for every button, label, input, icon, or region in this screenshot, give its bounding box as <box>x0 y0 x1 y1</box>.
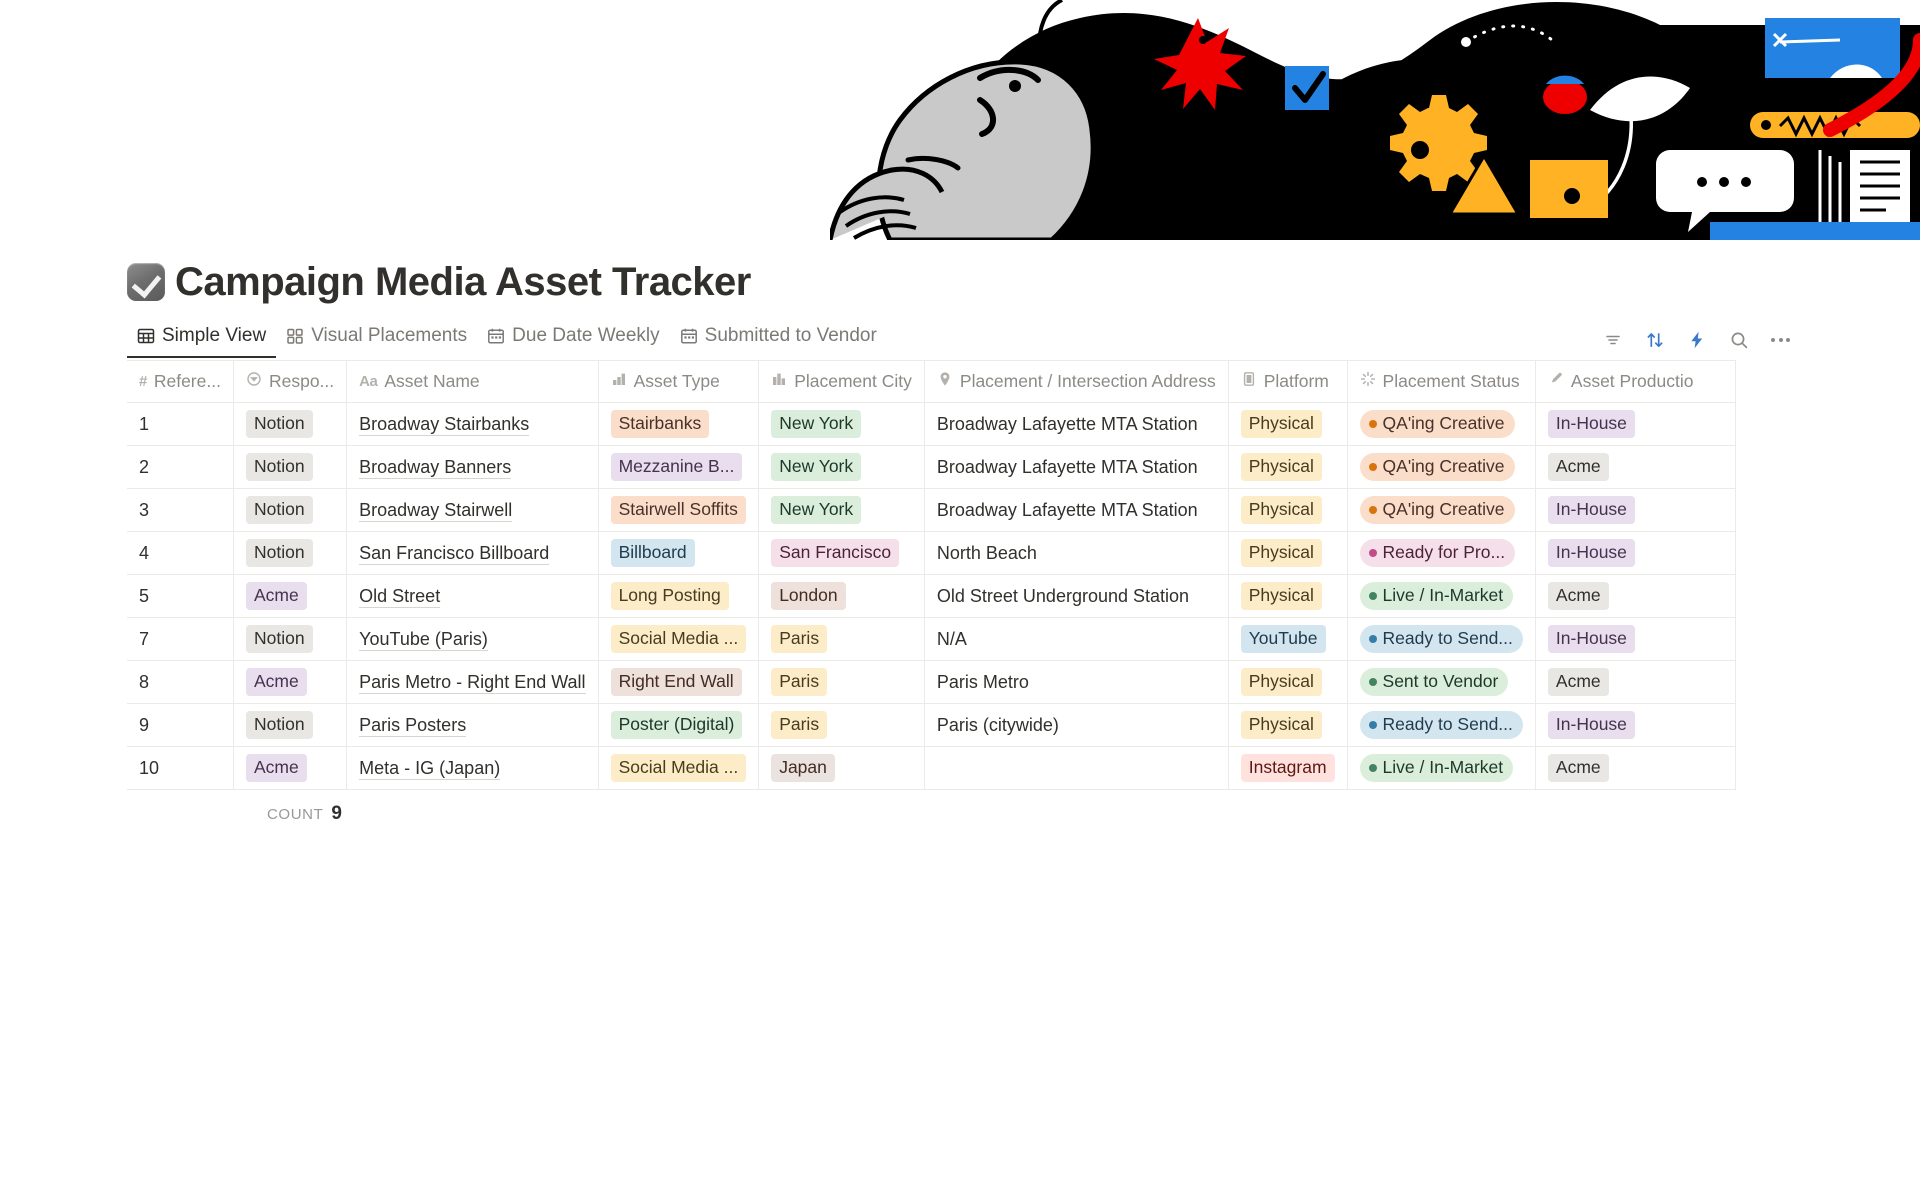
status-dot-icon <box>1369 463 1377 471</box>
table-row[interactable]: 2NotionBroadway BannersMezzanine B...New… <box>127 446 1735 489</box>
cell-placement-city[interactable]: New York <box>759 489 925 532</box>
table-icon <box>137 327 155 345</box>
select-device-icon <box>1241 371 1257 392</box>
asset-production-tag[interactable]: In-House <box>1548 539 1635 567</box>
placement-status-tag[interactable]: Ready to Send... <box>1360 711 1523 739</box>
cell-reference[interactable]: 10 <box>127 747 233 790</box>
cell-placement-address[interactable] <box>924 747 1228 790</box>
cell-asset-production[interactable]: In-House <box>1535 403 1735 446</box>
cell-asset-type[interactable]: Right End Wall <box>598 661 759 704</box>
cell-placement-status[interactable]: Ready to Send... <box>1347 618 1535 661</box>
cell-placement-status[interactable]: Ready to Send... <box>1347 704 1535 747</box>
cell-asset-name[interactable]: YouTube (Paris) <box>347 618 598 661</box>
asset-name-link[interactable]: Broadway Stairbanks <box>359 414 529 436</box>
tab-label: Due Date Weekly <box>512 325 660 347</box>
placement-city-tag[interactable]: Paris <box>771 625 827 653</box>
title-text-icon: Aa <box>359 373 377 390</box>
map-pin-icon <box>937 371 953 392</box>
gallery-icon <box>286 327 304 345</box>
column-header-platform[interactable]: Platform <box>1228 361 1347 403</box>
cell-asset-production[interactable]: In-House <box>1535 618 1735 661</box>
cell-asset-name[interactable]: San Francisco Billboard <box>347 532 598 575</box>
cell-reference[interactable]: 2 <box>127 446 233 489</box>
cell-placement-city[interactable]: Paris <box>759 661 925 704</box>
asset-type-tag[interactable]: Stairbanks <box>611 410 710 438</box>
cell-asset-name[interactable]: Broadway Stairbanks <box>347 403 598 446</box>
cell-asset-production[interactable]: In-House <box>1535 532 1735 575</box>
table-row[interactable]: 10AcmeMeta - IG (Japan)Social Media ...J… <box>127 747 1735 790</box>
cell-placement-address[interactable]: Broadway Lafayette MTA Station <box>924 446 1228 489</box>
cell-placement-address[interactable]: N/A <box>924 618 1228 661</box>
table-row[interactable]: 7NotionYouTube (Paris)Social Media ...Pa… <box>127 618 1735 661</box>
status-dot-icon <box>1369 635 1377 643</box>
table-header: # Refere... Respo... <box>127 361 1735 403</box>
cell-responsible[interactable]: Notion <box>233 403 346 446</box>
page-cover-image <box>830 0 1920 240</box>
asset-production-tag[interactable]: Acme <box>1548 668 1609 696</box>
asset-type-tag[interactable]: Long Posting <box>611 582 729 610</box>
cell-placement-status[interactable]: Live / In-Market <box>1347 575 1535 618</box>
cell-platform[interactable]: Physical <box>1228 532 1347 575</box>
cell-platform[interactable]: YouTube <box>1228 618 1347 661</box>
cell-placement-city[interactable]: Paris <box>759 704 925 747</box>
table-row[interactable]: 4NotionSan Francisco BillboardBillboardS… <box>127 532 1735 575</box>
cell-asset-type[interactable]: Social Media ... <box>598 618 759 661</box>
cell-reference[interactable]: 7 <box>127 618 233 661</box>
status-dot-icon <box>1369 592 1377 600</box>
cell-reference[interactable]: 8 <box>127 661 233 704</box>
cell-platform[interactable]: Physical <box>1228 446 1347 489</box>
view-tabs: Simple View Visual Placements <box>127 325 887 358</box>
placement-city-tag[interactable]: New York <box>771 453 861 481</box>
placement-status-tag[interactable]: QA'ing Creative <box>1360 496 1515 524</box>
platform-tag[interactable]: Instagram <box>1241 754 1335 782</box>
placement-city-tag[interactable]: New York <box>771 496 861 524</box>
cell-asset-type[interactable]: Social Media ... <box>598 747 759 790</box>
page-content: Campaign Media Asset Tracker Simple View <box>0 240 1920 825</box>
asset-type-tag[interactable]: Billboard <box>611 539 695 567</box>
asset-production-tag[interactable]: Acme <box>1548 754 1609 782</box>
tab-due-date-weekly[interactable]: Due Date Weekly <box>477 325 670 358</box>
cell-asset-name[interactable]: Broadway Stairwell <box>347 489 598 532</box>
cell-reference[interactable]: 5 <box>127 575 233 618</box>
cell-asset-production[interactable]: Acme <box>1535 661 1735 704</box>
asset-name-link[interactable]: Paris Posters <box>359 715 466 737</box>
cell-placement-address[interactable]: Old Street Underground Station <box>924 575 1228 618</box>
database-view-bar: Simple View Visual Placements <box>0 318 1920 358</box>
cell-asset-production[interactable]: In-House <box>1535 489 1735 532</box>
column-header-placement-city[interactable]: Placement City <box>759 361 925 403</box>
asset-type-tag[interactable]: Right End Wall <box>611 668 742 696</box>
cell-asset-type[interactable]: Stairbanks <box>598 403 759 446</box>
tab-simple-view[interactable]: Simple View <box>127 325 276 358</box>
asset-production-tag[interactable]: Acme <box>1548 582 1609 610</box>
cell-placement-status[interactable]: QA'ing Creative <box>1347 446 1535 489</box>
multi-select-icon <box>771 371 787 392</box>
platform-tag[interactable]: Physical <box>1241 410 1322 438</box>
status-dot-icon <box>1369 549 1377 557</box>
responsible-tag[interactable]: Notion <box>246 539 313 567</box>
table-row[interactable]: 3NotionBroadway StairwellStairwell Soffi… <box>127 489 1735 532</box>
asset-production-tag[interactable]: In-House <box>1548 625 1635 653</box>
cell-platform[interactable]: Physical <box>1228 489 1347 532</box>
tab-label: Visual Placements <box>311 325 467 347</box>
cell-asset-production[interactable]: Acme <box>1535 575 1735 618</box>
cell-reference[interactable]: 3 <box>127 489 233 532</box>
table-footer-count[interactable]: COUNT 9 <box>127 803 1920 825</box>
cell-asset-type[interactable]: Long Posting <box>598 575 759 618</box>
column-header-asset-type[interactable]: Asset Type <box>598 361 759 403</box>
cell-placement-city[interactable]: New York <box>759 446 925 489</box>
select-icon <box>246 371 262 392</box>
cell-placement-city[interactable]: San Francisco <box>759 532 925 575</box>
cell-placement-city[interactable]: London <box>759 575 925 618</box>
cell-placement-address[interactable]: Paris (citywide) <box>924 704 1228 747</box>
cell-asset-name[interactable]: Broadway Banners <box>347 446 598 489</box>
placement-status-tag[interactable]: QA'ing Creative <box>1360 453 1515 481</box>
status-dot-icon <box>1369 506 1377 514</box>
table-header-row: # Refere... Respo... <box>127 361 1735 403</box>
placement-city-tag[interactable]: New York <box>771 410 861 438</box>
status-icon <box>1360 371 1376 392</box>
cell-placement-address[interactable]: Paris Metro <box>924 661 1228 704</box>
database-table: # Refere... Respo... <box>127 360 1736 790</box>
responsible-tag[interactable]: Acme <box>246 754 307 782</box>
cell-reference[interactable]: 4 <box>127 532 233 575</box>
table-row[interactable]: 8AcmeParis Metro - Right End WallRight E… <box>127 661 1735 704</box>
platform-tag[interactable]: Physical <box>1241 496 1322 524</box>
tab-visual-placements[interactable]: Visual Placements <box>276 325 477 358</box>
status-dot-icon <box>1369 678 1377 686</box>
cell-reference[interactable]: 9 <box>127 704 233 747</box>
cell-asset-name[interactable]: Paris Posters <box>347 704 598 747</box>
placement-city-tag[interactable]: Paris <box>771 711 827 739</box>
cell-placement-status[interactable]: Live / In-Market <box>1347 747 1535 790</box>
asset-name-link[interactable]: San Francisco Billboard <box>359 543 549 565</box>
placement-status-tag[interactable]: Sent to Vendor <box>1360 668 1509 696</box>
platform-tag[interactable]: Physical <box>1241 582 1322 610</box>
calendar-icon <box>680 327 698 345</box>
cell-placement-city[interactable]: Japan <box>759 747 925 790</box>
table-body: 1NotionBroadway StairbanksStairbanksNew … <box>127 403 1735 790</box>
platform-tag[interactable]: Physical <box>1241 539 1322 567</box>
cell-responsible[interactable]: Acme <box>233 747 346 790</box>
more-options-icon[interactable] <box>1771 338 1790 342</box>
cell-placement-address[interactable]: Broadway Lafayette MTA Station <box>924 489 1228 532</box>
placement-city-tag[interactable]: San Francisco <box>771 539 899 567</box>
cell-placement-address[interactable]: North Beach <box>924 532 1228 575</box>
responsible-tag[interactable]: Notion <box>246 410 313 438</box>
table-row[interactable]: 1NotionBroadway StairbanksStairbanksNew … <box>127 403 1735 446</box>
asset-type-tag[interactable]: Poster (Digital) <box>611 711 743 739</box>
status-dot-icon <box>1369 420 1377 428</box>
asset-type-tag[interactable]: Mezzanine B... <box>611 453 743 481</box>
cell-responsible[interactable]: Notion <box>233 446 346 489</box>
cell-platform[interactable]: Physical <box>1228 704 1347 747</box>
asset-name-link[interactable]: YouTube (Paris) <box>359 629 488 651</box>
asset-name-link[interactable]: Broadway Banners <box>359 457 511 479</box>
asset-type-tag[interactable]: Social Media ... <box>611 625 747 653</box>
cell-placement-status[interactable]: Ready for Pro... <box>1347 532 1535 575</box>
view-toolbar <box>1603 330 1790 358</box>
filter-icon[interactable] <box>1603 330 1623 350</box>
automation-icon[interactable] <box>1687 330 1707 350</box>
cell-asset-production[interactable]: Acme <box>1535 747 1735 790</box>
cell-asset-name[interactable]: Old Street <box>347 575 598 618</box>
multi-select-icon <box>611 371 627 392</box>
cell-platform[interactable]: Physical <box>1228 403 1347 446</box>
cell-asset-production[interactable]: In-House <box>1535 704 1735 747</box>
cover-illustration <box>830 0 1920 240</box>
status-dot-icon <box>1369 721 1377 729</box>
asset-production-tag[interactable]: Acme <box>1548 453 1609 481</box>
responsible-tag[interactable]: Notion <box>246 496 313 524</box>
cell-asset-production[interactable]: Acme <box>1535 446 1735 489</box>
cell-placement-status[interactable]: QA'ing Creative <box>1347 403 1535 446</box>
cell-responsible[interactable]: Notion <box>233 489 346 532</box>
column-header-asset-production[interactable]: Asset Productio <box>1535 361 1735 403</box>
asset-name-link[interactable]: Broadway Stairwell <box>359 500 512 522</box>
cell-asset-type[interactable]: Mezzanine B... <box>598 446 759 489</box>
asset-production-tag[interactable]: In-House <box>1548 711 1635 739</box>
cell-placement-city[interactable]: Paris <box>759 618 925 661</box>
pen-icon <box>1548 371 1564 392</box>
count-value: 9 <box>331 803 342 825</box>
cell-asset-type[interactable]: Stairwell Soffits <box>598 489 759 532</box>
asset-production-tag[interactable]: In-House <box>1548 410 1635 438</box>
cell-responsible[interactable]: Acme <box>233 661 346 704</box>
column-header-responsible[interactable]: Respo... <box>233 361 346 403</box>
number-icon: # <box>139 373 147 390</box>
platform-tag[interactable]: YouTube <box>1241 625 1326 653</box>
column-header-placement-address[interactable]: Placement / Intersection Address <box>924 361 1228 403</box>
cell-responsible[interactable]: Notion <box>233 704 346 747</box>
asset-type-tag[interactable]: Stairwell Soffits <box>611 496 746 524</box>
page-title[interactable]: Campaign Media Asset Tracker <box>175 262 751 302</box>
cell-responsible[interactable]: Acme <box>233 575 346 618</box>
calendar-icon <box>487 327 505 345</box>
platform-tag[interactable]: Physical <box>1241 453 1322 481</box>
platform-tag[interactable]: Physical <box>1241 711 1322 739</box>
responsible-tag[interactable]: Notion <box>246 453 313 481</box>
asset-name-link[interactable]: Meta - IG (Japan) <box>359 758 500 780</box>
cell-placement-status[interactable]: Sent to Vendor <box>1347 661 1535 704</box>
cell-asset-name[interactable]: Meta - IG (Japan) <box>347 747 598 790</box>
tab-label: Submitted to Vendor <box>705 325 877 347</box>
placement-status-tag[interactable]: QA'ing Creative <box>1360 410 1515 438</box>
table-row[interactable]: 5AcmeOld StreetLong PostingLondonOld Str… <box>127 575 1735 618</box>
page-title-row: Campaign Media Asset Tracker <box>0 240 1920 302</box>
cell-placement-status[interactable]: QA'ing Creative <box>1347 489 1535 532</box>
cell-platform[interactable]: Instagram <box>1228 747 1347 790</box>
cell-platform[interactable]: Physical <box>1228 661 1347 704</box>
database-table-container: # Refere... Respo... <box>0 360 1920 825</box>
cell-reference[interactable]: 1 <box>127 403 233 446</box>
responsible-tag[interactable]: Acme <box>246 668 307 696</box>
responsible-tag[interactable]: Acme <box>246 582 307 610</box>
sort-icon[interactable] <box>1645 330 1665 350</box>
count-label: COUNT <box>267 806 323 823</box>
responsible-tag[interactable]: Notion <box>246 625 313 653</box>
placement-city-tag[interactable]: Japan <box>771 754 835 782</box>
cell-responsible[interactable]: Notion <box>233 532 346 575</box>
tab-submitted-to-vendor[interactable]: Submitted to Vendor <box>670 325 887 358</box>
status-dot-icon <box>1369 764 1377 772</box>
cell-placement-address[interactable]: Broadway Lafayette MTA Station <box>924 403 1228 446</box>
cell-responsible[interactable]: Notion <box>233 618 346 661</box>
cell-placement-city[interactable]: New York <box>759 403 925 446</box>
asset-type-tag[interactable]: Social Media ... <box>611 754 747 782</box>
column-header-placement-status[interactable]: Placement Status <box>1347 361 1535 403</box>
placement-status-tag[interactable]: Ready for Pro... <box>1360 539 1516 567</box>
column-header-asset-name[interactable]: Aa Asset Name <box>347 361 598 403</box>
placement-status-tag[interactable]: Live / In-Market <box>1360 582 1514 610</box>
platform-tag[interactable]: Physical <box>1241 668 1322 696</box>
placement-status-tag[interactable]: Live / In-Market <box>1360 754 1514 782</box>
placement-city-tag[interactable]: London <box>771 582 845 610</box>
cell-asset-type[interactable]: Poster (Digital) <box>598 704 759 747</box>
asset-name-link[interactable]: Old Street <box>359 586 440 608</box>
cell-asset-name[interactable]: Paris Metro - Right End Wall <box>347 661 598 704</box>
white-check-mark-emoji-icon[interactable] <box>127 263 165 301</box>
tab-label: Simple View <box>162 325 266 347</box>
column-header-reference[interactable]: # Refere... <box>127 361 233 403</box>
responsible-tag[interactable]: Notion <box>246 711 313 739</box>
search-icon[interactable] <box>1729 330 1749 350</box>
table-row[interactable]: 9NotionParis PostersPoster (Digital)Pari… <box>127 704 1735 747</box>
cell-asset-type[interactable]: Billboard <box>598 532 759 575</box>
placement-status-tag[interactable]: Ready to Send... <box>1360 625 1523 653</box>
placement-city-tag[interactable]: Paris <box>771 668 827 696</box>
cell-platform[interactable]: Physical <box>1228 575 1347 618</box>
asset-production-tag[interactable]: In-House <box>1548 496 1635 524</box>
asset-name-link[interactable]: Paris Metro - Right End Wall <box>359 672 585 694</box>
